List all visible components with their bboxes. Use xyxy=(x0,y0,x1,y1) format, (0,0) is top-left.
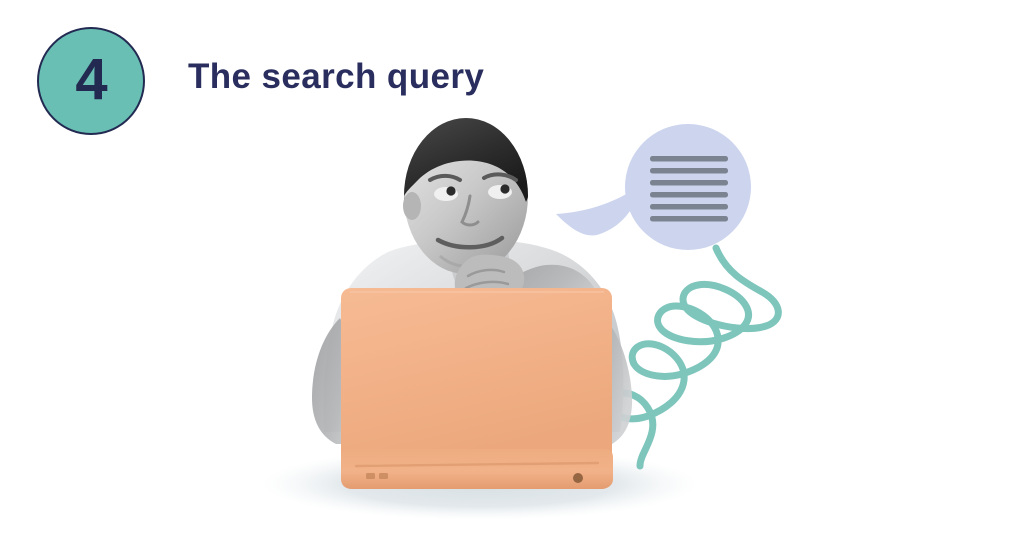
connector-cord xyxy=(611,248,778,466)
step-number-badge: 4 xyxy=(37,27,145,135)
page-title: The search query xyxy=(188,56,484,98)
illustration xyxy=(0,0,1024,548)
port-rect-left-2 xyxy=(379,473,388,479)
port-rect-left xyxy=(366,473,375,479)
step-number-label: 4 xyxy=(75,51,106,109)
thought-bubble xyxy=(625,124,751,250)
port-circle-right xyxy=(573,473,583,483)
laptop xyxy=(341,288,613,489)
slide-canvas: 4 The search query xyxy=(0,0,1024,548)
